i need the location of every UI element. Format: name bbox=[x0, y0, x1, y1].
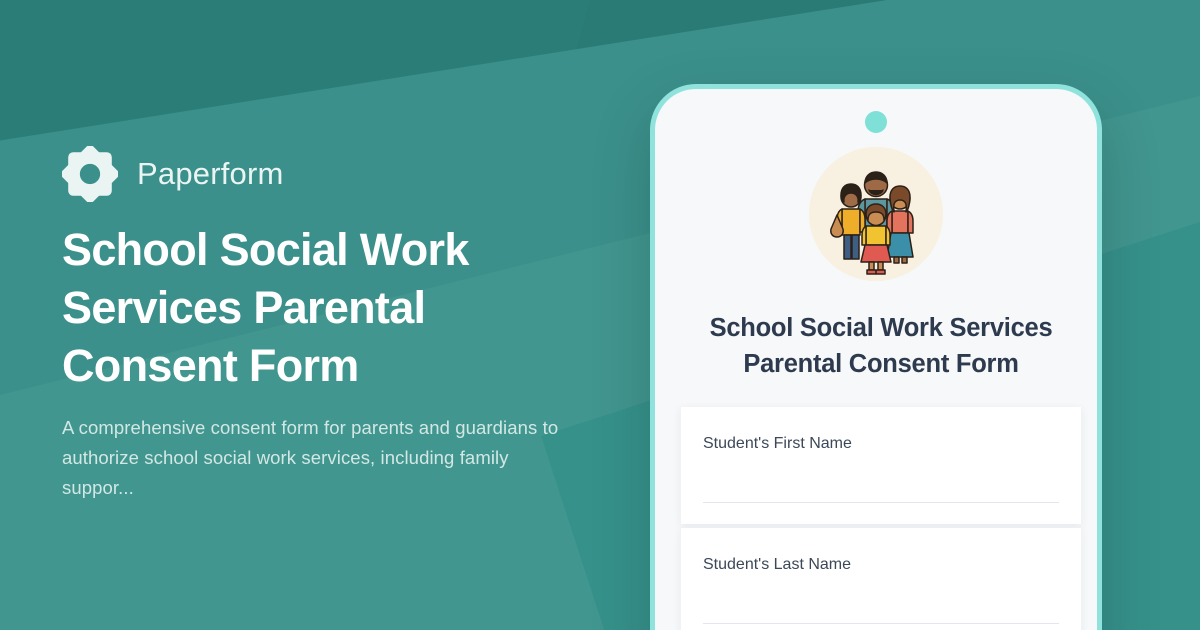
phone-mockup: School Social Work Services Parental Con… bbox=[650, 84, 1102, 630]
field-label: Student's First Name bbox=[703, 433, 1059, 455]
promo-card: Paperform School Social Work Services Pa… bbox=[0, 0, 1200, 630]
hero-content: Paperform School Social Work Services Pa… bbox=[62, 0, 642, 630]
field-input[interactable] bbox=[703, 502, 1059, 503]
family-illustration-icon bbox=[809, 147, 943, 281]
hero-description: A comprehensive consent form for parents… bbox=[62, 413, 582, 503]
paperform-logo-icon bbox=[62, 146, 118, 202]
form-title: School Social Work Services Parental Con… bbox=[679, 310, 1083, 382]
page-title: School Social Work Services Parental Con… bbox=[62, 221, 582, 395]
field-label: Student's Last Name bbox=[703, 554, 1059, 576]
camera-dot-icon bbox=[865, 111, 887, 133]
form-fields: Student's First Name Student's Last Name bbox=[681, 407, 1081, 630]
form-field-student-last-name[interactable]: Student's Last Name bbox=[681, 528, 1081, 630]
form-field-student-first-name[interactable]: Student's First Name bbox=[681, 407, 1081, 524]
brand-lockup: Paperform bbox=[62, 146, 284, 202]
field-input[interactable] bbox=[703, 623, 1059, 624]
brand-name: Paperform bbox=[137, 156, 284, 192]
